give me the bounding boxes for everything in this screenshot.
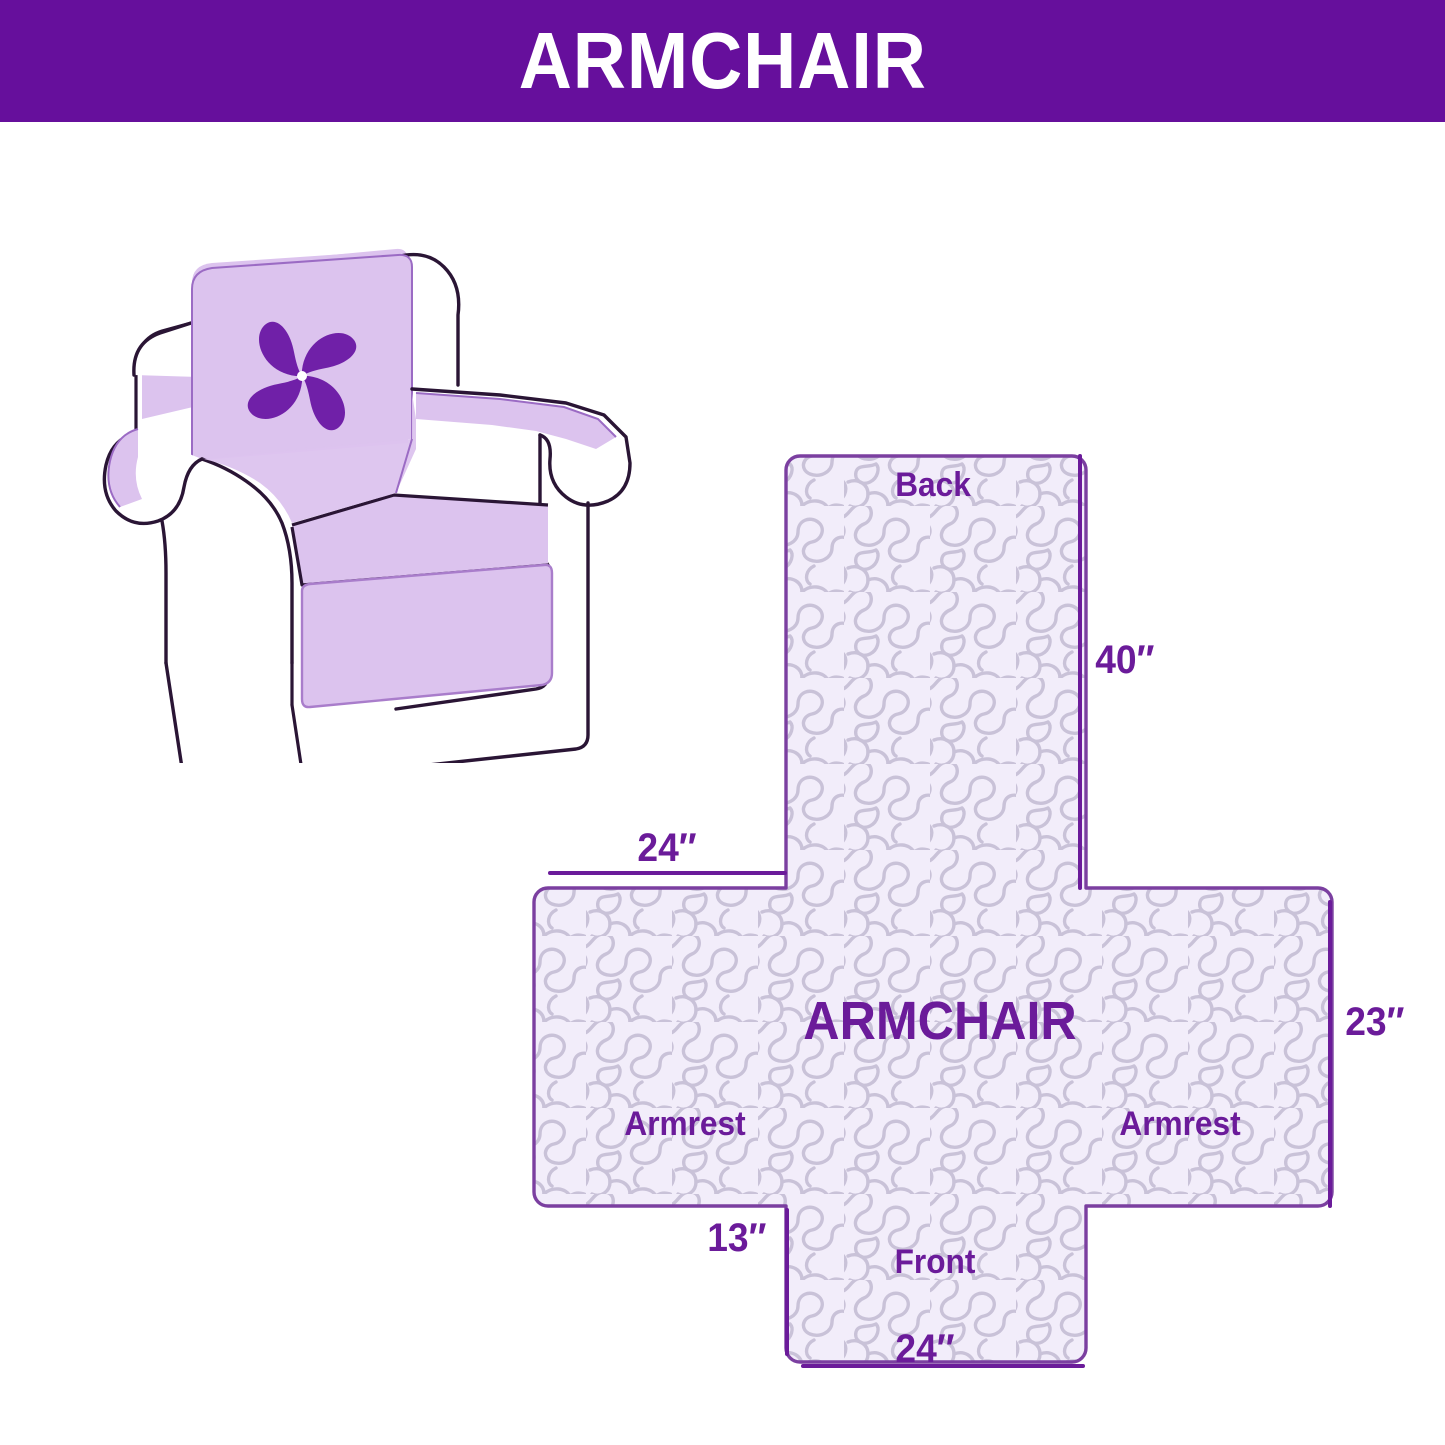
panel-label-front: Front	[837, 1243, 1032, 1282]
slipcover-outline	[534, 456, 1332, 1362]
dimension-label-back-length: 40″	[1095, 638, 1154, 683]
header-banner: ARMCHAIR	[0, 0, 1445, 122]
product-dimension-diagram-page: ARMCHAIR	[0, 0, 1445, 1445]
panel-label-back: Back	[840, 466, 1026, 505]
cross-shape-with-dimensions	[500, 420, 1445, 1380]
dimension-label-front-length: 13″	[707, 1216, 766, 1261]
slipcover-cross-diagram	[500, 420, 1445, 1380]
panel-label-armrest-left: Armrest	[518, 1105, 853, 1144]
dimension-label-back-width: 24″	[588, 826, 746, 871]
panel-label-seat: ARMCHAIR	[763, 990, 1116, 1052]
dimension-label-front-width: 24″	[846, 1327, 1004, 1372]
panel-label-armrest-right: Armrest	[1013, 1105, 1348, 1144]
page-title: ARMCHAIR	[518, 21, 926, 101]
dimension-label-seat-depth: 23″	[1345, 1000, 1404, 1045]
